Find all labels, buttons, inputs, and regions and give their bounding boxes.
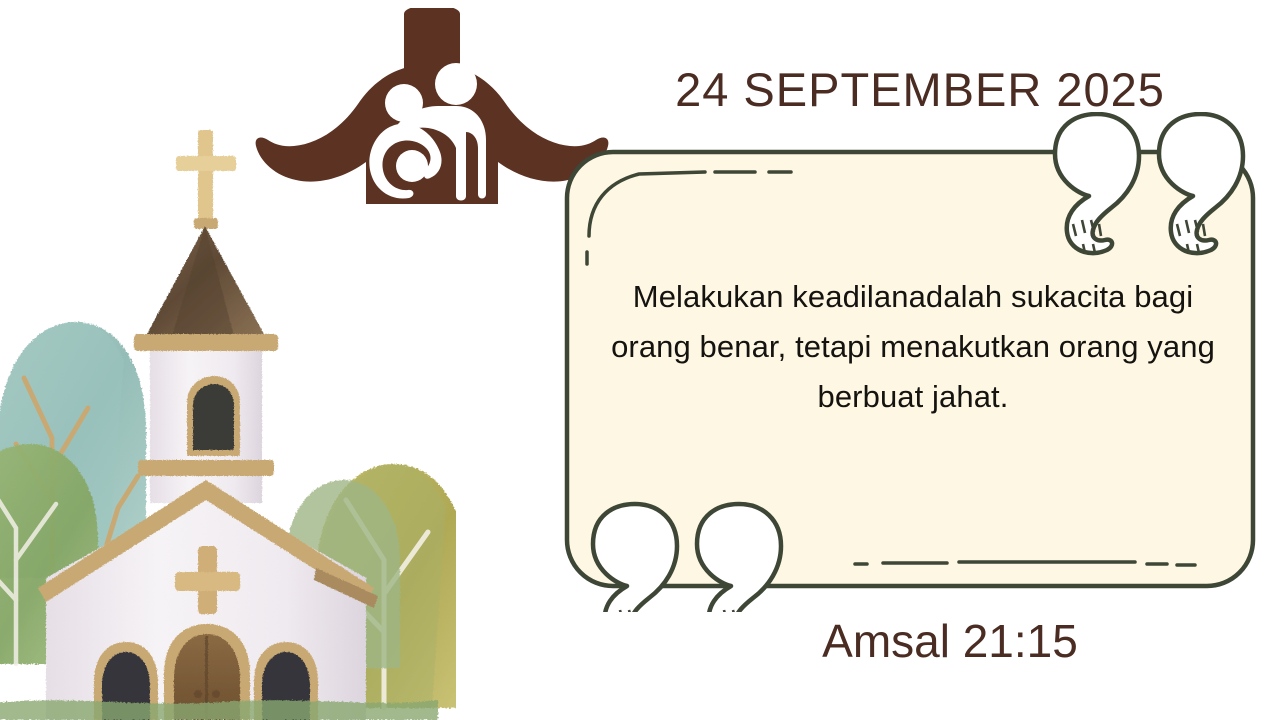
quote-bubble: Melakukan keadilanadalah sukacita bagi o… — [555, 112, 1265, 612]
grass-base — [0, 700, 438, 720]
steeple-cornice — [134, 334, 278, 351]
date-heading: 24 SEPTEMBER 2025 — [640, 62, 1200, 117]
steeple-roof — [146, 226, 265, 336]
verse-of-the-day-card: 24 SEPTEMBER 2025 — [0, 0, 1280, 720]
steeple-cross — [176, 130, 236, 229]
steeple-band — [138, 460, 274, 476]
quote-mark-bottom-1 — [593, 504, 677, 612]
quote-text: Melakukan keadilanadalah sukacita bagi o… — [603, 272, 1223, 423]
scripture-reference: Amsal 21:15 — [700, 614, 1200, 668]
steeple-window — [187, 376, 240, 456]
quote-mark-bottom-2 — [697, 504, 781, 612]
